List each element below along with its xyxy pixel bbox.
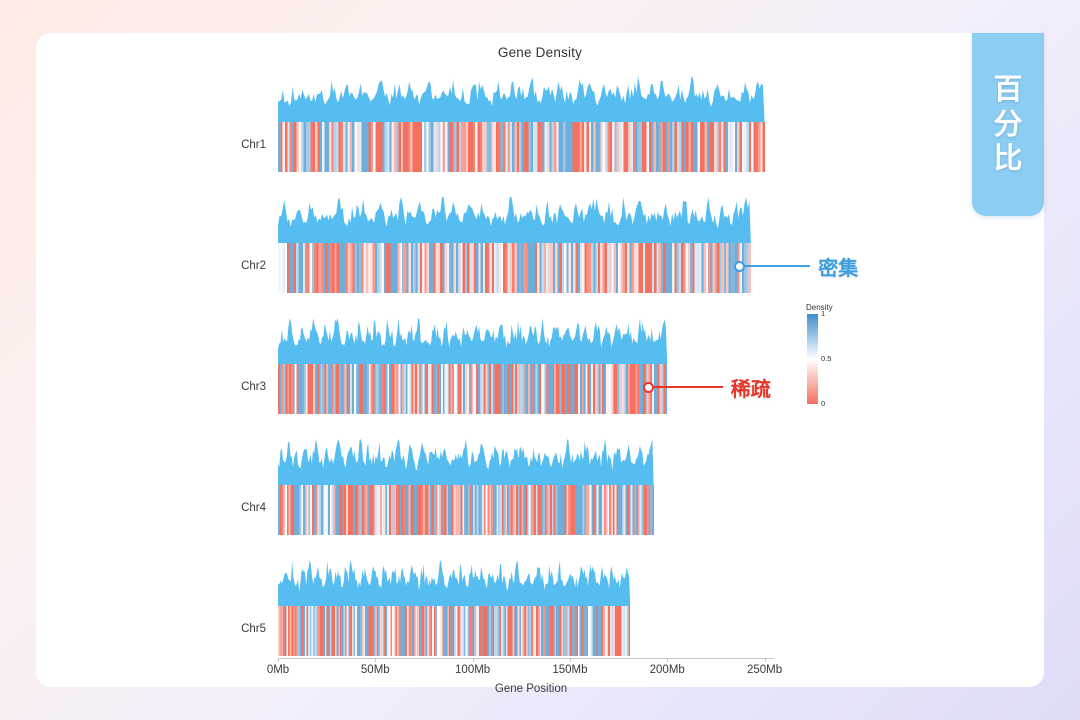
x-axis-tick-label: 250Mb bbox=[747, 664, 782, 676]
density-curve bbox=[278, 314, 667, 364]
x-axis-tick-label: 100Mb bbox=[455, 664, 490, 676]
chromosome-label-chr3: Chr3 bbox=[206, 381, 266, 393]
gene-density-heat-band bbox=[278, 364, 667, 414]
density-curve bbox=[278, 435, 654, 485]
density-curve bbox=[278, 72, 765, 122]
chromosome-track bbox=[278, 193, 751, 293]
tab-char-3: 比 bbox=[993, 143, 1022, 175]
gene-density-heat-band bbox=[278, 243, 751, 293]
density-curve bbox=[278, 556, 630, 606]
gene-density-heat-band bbox=[278, 122, 765, 172]
tab-char-2: 分 bbox=[993, 109, 1022, 141]
x-axis-tick bbox=[570, 658, 571, 662]
chromosome-label-chr2: Chr2 bbox=[206, 260, 266, 272]
x-axis-tick bbox=[375, 658, 376, 662]
x-axis-title: Gene Position bbox=[495, 683, 567, 695]
x-axis-line bbox=[278, 658, 774, 659]
x-axis-tick-label: 150Mb bbox=[552, 664, 587, 676]
chromosome-track bbox=[278, 314, 667, 414]
x-axis-tick-label: 0Mb bbox=[267, 664, 289, 676]
chromosome-label-chr4: Chr4 bbox=[206, 502, 266, 514]
chromosome-label-chr5: Chr5 bbox=[206, 623, 266, 635]
colorbar-title: Density bbox=[806, 303, 833, 312]
colorbar-tick-label: 0 bbox=[821, 399, 825, 408]
density-colorbar: Density 10.50 bbox=[806, 303, 876, 413]
x-axis-tick bbox=[667, 658, 668, 662]
chromosome-track bbox=[278, 72, 765, 172]
density-curve bbox=[278, 193, 751, 243]
colorbar-tick-label: 0.5 bbox=[821, 354, 831, 363]
chromosome-label-chr1: Chr1 bbox=[206, 139, 266, 151]
chart-title: Gene Density bbox=[36, 45, 1044, 60]
chromosome-track bbox=[278, 435, 654, 535]
x-axis-tick bbox=[473, 658, 474, 662]
x-axis-tick bbox=[765, 658, 766, 662]
sparse-annotation-marker[interactable] bbox=[643, 382, 654, 393]
chromosome-track bbox=[278, 556, 630, 656]
dense-annotation-leader-line bbox=[744, 265, 810, 267]
x-axis-tick bbox=[278, 658, 279, 662]
gene-density-chart: Gene Density Chr1Chr2Chr3Chr4Chr5 0Mb50M… bbox=[36, 33, 1044, 687]
dense-annotation-label: 密集 bbox=[818, 252, 858, 281]
gene-density-heat-band bbox=[278, 485, 654, 535]
sparse-annotation-label: 稀疏 bbox=[731, 373, 771, 402]
colorbar-tick-label: 1 bbox=[821, 309, 825, 318]
x-axis-tick-label: 50Mb bbox=[361, 664, 390, 676]
percentage-tab[interactable]: 百 分 比 bbox=[972, 33, 1044, 216]
tab-char-1: 百 bbox=[993, 74, 1022, 106]
screenshot-root: Gene Density Chr1Chr2Chr3Chr4Chr5 0Mb50M… bbox=[0, 0, 1080, 720]
content-card: Gene Density Chr1Chr2Chr3Chr4Chr5 0Mb50M… bbox=[36, 33, 1044, 687]
gene-density-heat-band bbox=[278, 606, 630, 656]
colorbar-gradient bbox=[807, 314, 818, 404]
x-axis-tick-label: 200Mb bbox=[650, 664, 685, 676]
sparse-annotation-leader-line bbox=[653, 386, 723, 388]
